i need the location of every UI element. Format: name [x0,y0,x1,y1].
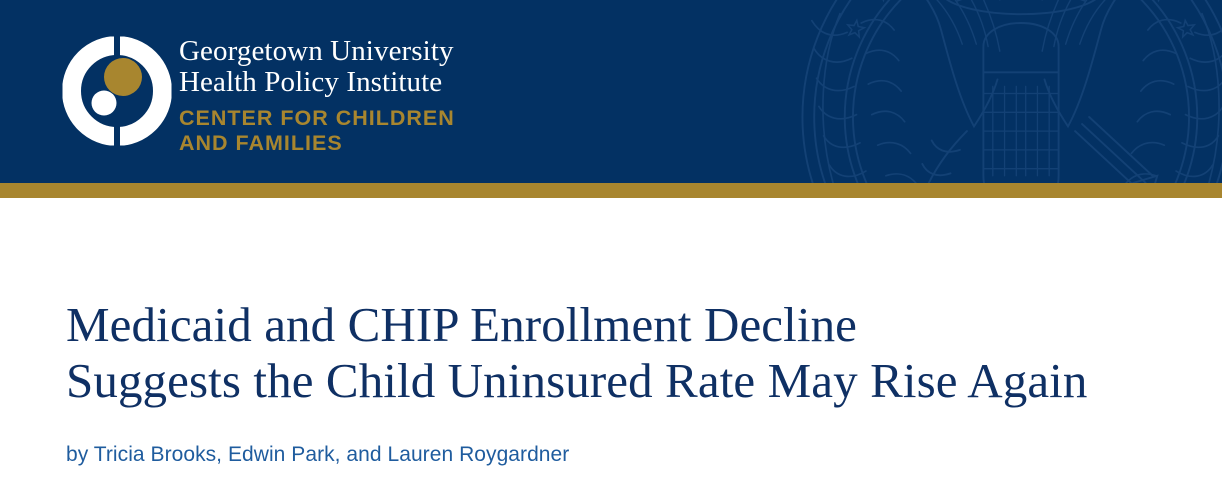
byline: by Tricia Brooks, Edwin Park, and Lauren… [66,442,1186,468]
ccf-logo-mark-icon [61,30,173,152]
headline-line-2: Suggests the Child Uninsured Rate May Ri… [66,353,1186,409]
wordmark-line-2: Health Policy Institute [179,67,649,98]
page-title: Medicaid and CHIP Enrollment Decline Sug… [66,297,1186,409]
report-cover-page: Georgetown University Health Policy Inst… [0,0,1222,477]
logo-wordmark: Georgetown University Health Policy Inst… [179,36,649,156]
georgetown-university-seal-icon [786,0,1222,183]
logo-subtitle-line-1: CENTER FOR CHILDREN [179,106,649,131]
masthead-banner: Georgetown University Health Policy Inst… [0,0,1222,183]
logo-subtitle-line-2: AND FAMILIES [179,131,649,156]
gold-divider-rule [0,183,1222,198]
wordmark-line-1: Georgetown University [179,36,649,67]
logo-subtitle: CENTER FOR CHILDREN AND FAMILIES [179,106,649,156]
article-header: Medicaid and CHIP Enrollment Decline Sug… [66,264,1186,468]
headline-line-1: Medicaid and CHIP Enrollment Decline [66,297,1186,353]
